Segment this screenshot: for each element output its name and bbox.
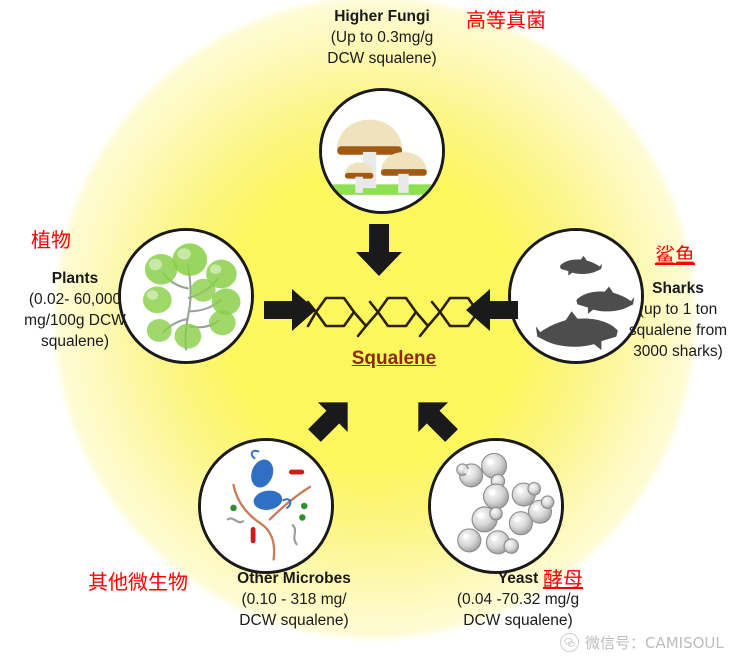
label-sharks-line1: (up to 1 ton: [606, 299, 750, 320]
arrow-yeast-to-center: [408, 392, 464, 448]
label-plants-line2: mg/100g DCW: [0, 310, 150, 331]
yeast-cells-icon: [431, 441, 561, 571]
label-yeast-line2: DCW squalene): [418, 610, 618, 631]
arrow-sharks-to-center: [464, 286, 520, 334]
watermark: 微信号：CAMISOUL: [560, 632, 724, 653]
label-plants-chinese: 植物: [31, 228, 71, 252]
label-plants: Plants (0.02- 60,000 mg/100g DCW squalen…: [0, 268, 150, 352]
label-sharks: Sharks (up to 1 ton squalene from 3000 s…: [606, 278, 750, 362]
label-yeast-title: Yeast: [418, 568, 618, 589]
label-sharks-title: Sharks: [606, 278, 750, 299]
diagram-canvas: Higher Fungi (Up to 0.3mg/g DCW squalene…: [0, 0, 750, 662]
squalene-title: Squalene: [304, 348, 484, 370]
label-fungi-title: Higher Fungi: [282, 6, 482, 27]
label-fungi-line1: (Up to 0.3mg/g: [282, 27, 482, 48]
label-sharks-line2: squalene from: [606, 320, 750, 341]
label-sharks-chinese: 鲨鱼: [655, 243, 695, 267]
node-circle-microbes[interactable]: [198, 438, 334, 574]
mushrooms-icon: [322, 91, 442, 211]
label-fungi-line2: DCW squalene): [282, 48, 482, 69]
node-circle-yeast[interactable]: [428, 438, 564, 574]
squalene-center: Squalene: [304, 288, 484, 384]
squalene-molecule-icon: [304, 288, 484, 350]
arrow-microbes-to-center: [302, 392, 358, 448]
node-circle-fungi[interactable]: [319, 88, 445, 214]
label-microbes-line2: DCW squalene): [194, 610, 394, 631]
label-fungi: Higher Fungi (Up to 0.3mg/g DCW squalene…: [282, 6, 482, 69]
watermark-text: 微信号：CAMISOUL: [585, 632, 724, 653]
label-plants-title: Plants: [0, 268, 150, 289]
label-plants-line1: (0.02- 60,000: [0, 289, 150, 310]
label-plants-line3: squalene): [0, 331, 150, 352]
label-yeast: Yeast (0.04 -70.32 mg/g DCW squalene): [418, 568, 618, 631]
label-microbes-chinese: 其他微生物: [88, 570, 188, 594]
label-microbes-title: Other Microbes: [194, 568, 394, 589]
label-fungi-chinese: 高等真菌: [466, 8, 546, 32]
label-yeast-chinese: 酵母: [543, 567, 583, 591]
label-microbes-line1: (0.10 - 318 mg/: [194, 589, 394, 610]
label-microbes: Other Microbes (0.10 - 318 mg/ DCW squal…: [194, 568, 394, 631]
arrow-fungi-to-center: [352, 222, 406, 278]
label-sharks-line3: 3000 sharks): [606, 341, 750, 362]
label-yeast-line1: (0.04 -70.32 mg/g: [418, 589, 618, 610]
wechat-logo-icon: [560, 633, 579, 652]
bacteria-icon: [201, 441, 331, 571]
arrow-plants-to-center: [262, 286, 318, 334]
